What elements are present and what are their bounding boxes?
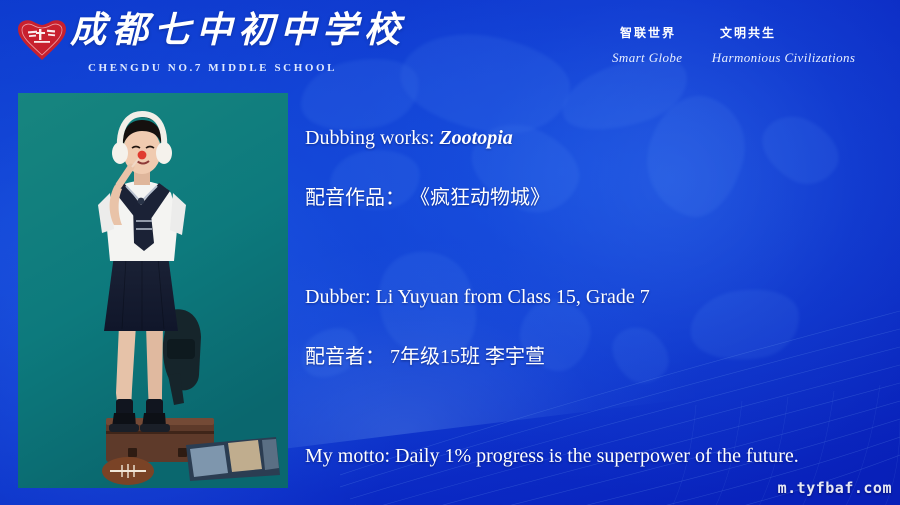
slogan-en: Smart Globe Harmonious Civilizations — [612, 50, 855, 66]
slogan-en-left: Smart Globe — [612, 50, 682, 65]
student-portrait-illustration — [18, 93, 288, 488]
skirt — [104, 255, 178, 331]
school-name-cn: 成都七中初中学校 — [70, 12, 406, 48]
school-name-en: CHENGDU NO.7 MIDDLE SCHOOL — [88, 62, 337, 74]
slide-header: 成都七中初中学校 CHENGDU NO.7 MIDDLE SCHOOL 智联世界… — [0, 0, 900, 88]
dubbing-works-title: Zootopia — [439, 127, 512, 149]
slogan-en-right: Harmonious Civilizations — [712, 50, 856, 65]
student-portrait-photo — [18, 93, 288, 488]
slide-body-text: Dubbing works: Zootopia 配音作品： 《疯狂动物城》 Du… — [305, 128, 885, 505]
football-prop — [102, 457, 154, 485]
dubbing-works-line-cn: 配音作品： 《疯狂动物城》 — [305, 188, 885, 208]
slogan-cn-left: 智联世界 — [620, 26, 676, 40]
dubbing-works-line-en: Dubbing works: Zootopia — [305, 128, 885, 148]
slogan-cn-right: 文明共生 — [720, 26, 776, 40]
dubber-line-cn: 配音者： 7年级15班 李宇萱 — [305, 347, 885, 367]
dubber-block: Dubber: Li Yuyuan from Class 15, Grade 7… — [305, 287, 885, 367]
dubber-line-en: Dubber: Li Yuyuan from Class 15, Grade 7 — [305, 287, 885, 307]
dubbing-works-block: Dubbing works: Zootopia 配音作品： 《疯狂动物城》 — [305, 128, 885, 208]
motto-line-en: My motto: Daily 1% progress is the super… — [305, 446, 885, 466]
school-shield-emblem-icon — [14, 16, 70, 62]
slogan-cn: 智联世界 文明共生 — [620, 24, 776, 41]
dubbing-works-label: Dubbing works: — [305, 127, 434, 149]
presentation-slide: 成都七中初中学校 CHENGDU NO.7 MIDDLE SCHOOL 智联世界… — [0, 0, 900, 505]
site-watermark: m.tyfbaf.com — [778, 479, 892, 497]
